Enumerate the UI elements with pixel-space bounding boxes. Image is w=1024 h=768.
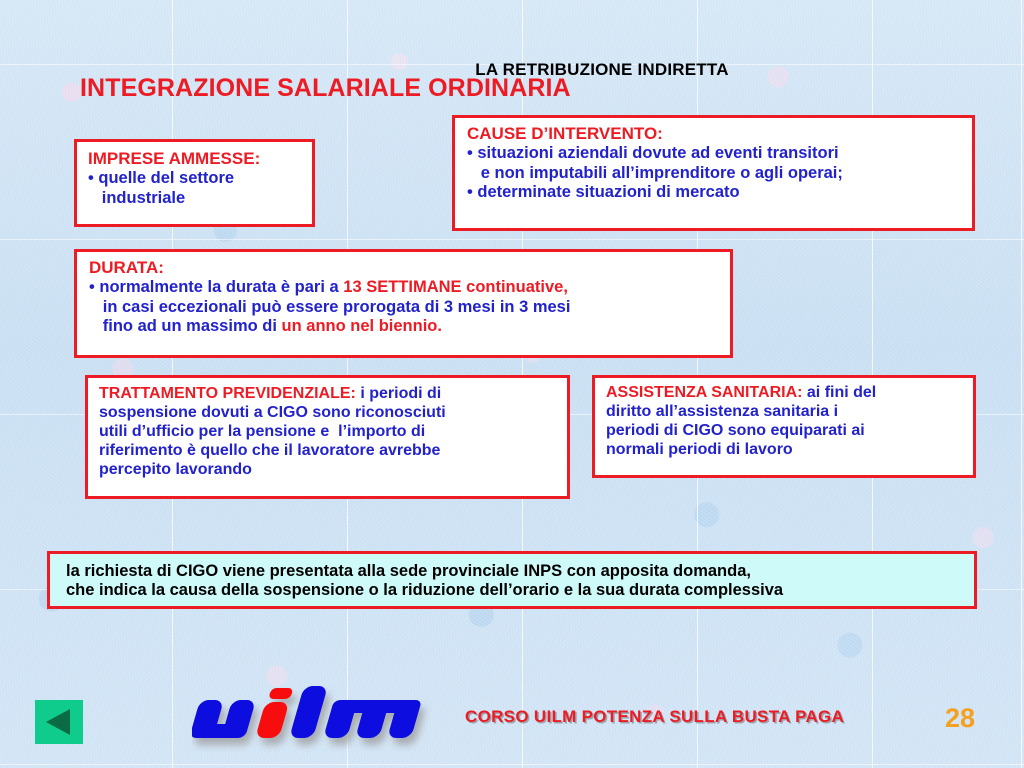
uilm-logo xyxy=(192,686,442,752)
left-triangle-icon xyxy=(46,709,70,735)
trattamento-previdenziale-box: TRATTAMENTO PREVIDENZIALE: i periodi di … xyxy=(85,375,570,499)
durata-line-3: fino ad un massimo di un anno nel bienni… xyxy=(89,317,720,336)
cause-intervento-box: CAUSE D’INTERVENTO: • situazioni azienda… xyxy=(452,115,975,231)
slide-canvas: LA RETRIBUZIONE INDIRETTA INTEGRAZIONE S… xyxy=(0,0,1024,768)
imprese-ammesse-line-2: industriale xyxy=(88,189,304,208)
durata-line-2: in casi eccezionali può essere prorogata… xyxy=(89,298,720,317)
back-navigation-button[interactable] xyxy=(35,700,83,744)
richiesta-cigo-box: la richiesta di CIGO viene presentata al… xyxy=(47,551,977,609)
trattamento-previdenziale-line-5: percepito lavorando xyxy=(99,461,559,480)
cause-intervento-line-3: • determinate situazioni di mercato xyxy=(467,183,962,202)
course-footer-text: CORSO UILM POTENZA SULLA BUSTA PAGA xyxy=(465,707,844,727)
trattamento-previdenziale-line-4: riferimento è quello che il lavoratore a… xyxy=(99,442,559,461)
assistenza-sanitaria-heading: ASSISTENZA SANITARIA: xyxy=(606,384,802,401)
richiesta-cigo-content: la richiesta di CIGO viene presentata al… xyxy=(50,554,974,607)
trattamento-previdenziale-line-1: TRATTAMENTO PREVIDENZIALE: i periodi di xyxy=(99,385,559,404)
assistenza-sanitaria-content: ASSISTENZA SANITARIA: ai fini del diritt… xyxy=(595,378,973,465)
cause-intervento-line-1: • situazioni aziendali dovute ad eventi … xyxy=(467,144,962,163)
imprese-ammesse-box: IMPRESE AMMESSE: • quelle del settore in… xyxy=(74,139,315,227)
durata-heading: DURATA: xyxy=(89,258,720,278)
trattamento-previdenziale-content: TRATTAMENTO PREVIDENZIALE: i periodi di … xyxy=(88,378,567,484)
cause-intervento-line-2: e non imputabili all’imprenditore o agli… xyxy=(467,164,962,183)
assistenza-sanitaria-line-4: normali periodi di lavoro xyxy=(606,441,965,460)
imprese-ammesse-line-1: • quelle del settore xyxy=(88,169,304,188)
trattamento-previdenziale-line-2: sospensione dovuti a CIGO sono riconosci… xyxy=(99,404,559,423)
cause-intervento-heading: CAUSE D’INTERVENTO: xyxy=(467,124,962,144)
page-number: 28 xyxy=(945,703,975,734)
trattamento-previdenziale-heading: TRATTAMENTO PREVIDENZIALE: xyxy=(99,385,356,402)
trattamento-previdenziale-line-3: utili d’ufficio per la pensione e l’impo… xyxy=(99,423,559,442)
assistenza-sanitaria-line-1: ASSISTENZA SANITARIA: ai fini del xyxy=(606,384,965,403)
cause-intervento-content: CAUSE D’INTERVENTO: • situazioni azienda… xyxy=(455,118,972,208)
assistenza-sanitaria-line-3: periodi di CIGO sono equiparati ai xyxy=(606,422,965,441)
durata-line-1: • normalmente la durata è pari a 13 SETT… xyxy=(89,278,720,297)
imprese-ammesse-content: IMPRESE AMMESSE: • quelle del settore in… xyxy=(77,142,312,214)
durata-box: DURATA: • normalmente la durata è pari a… xyxy=(74,249,733,358)
durata-line-1-emphasis: 13 SETTIMANE continuative, xyxy=(343,278,568,296)
richiesta-cigo-line-2: che indica la causa della sospensione o … xyxy=(66,581,964,600)
assistenza-sanitaria-body-start: ai fini del xyxy=(802,384,876,401)
durata-line-3-emphasis: un anno nel biennio. xyxy=(282,317,442,335)
assistenza-sanitaria-line-2: diritto all’assistenza sanitaria i xyxy=(606,403,965,422)
imprese-ammesse-heading: IMPRESE AMMESSE: xyxy=(88,149,304,169)
durata-content: DURATA: • normalmente la durata è pari a… xyxy=(77,252,730,342)
trattamento-previdenziale-body-start: i periodi di xyxy=(356,385,441,402)
durata-line-3-text: fino ad un massimo di xyxy=(89,317,282,335)
durata-line-1-text: • normalmente la durata è pari a xyxy=(89,278,343,296)
assistenza-sanitaria-box: ASSISTENZA SANITARIA: ai fini del diritt… xyxy=(592,375,976,478)
richiesta-cigo-line-1: la richiesta di CIGO viene presentata al… xyxy=(66,562,964,581)
page-title: INTEGRAZIONE SALARIALE ORDINARIA xyxy=(80,74,571,103)
